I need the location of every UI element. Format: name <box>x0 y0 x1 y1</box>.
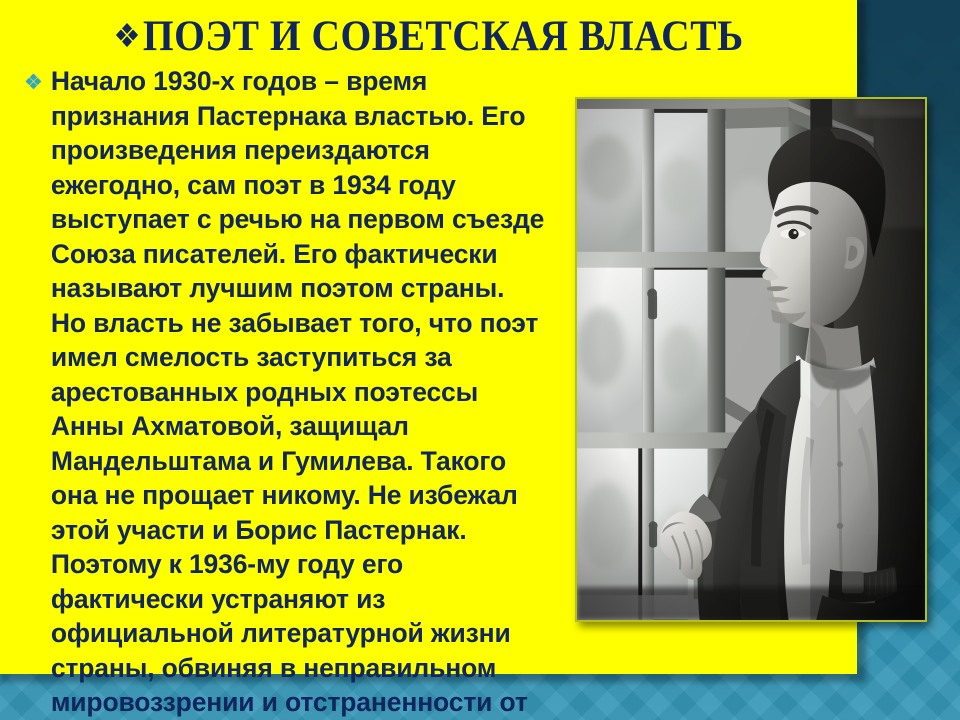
slide: ❖ПОЭТ И СОВЕТСКАЯ ВЛАСТЬ ❖ Начало 1930-х… <box>0 0 960 720</box>
diamond-bullet-icon: ❖ <box>113 16 141 55</box>
photo-frame <box>575 97 927 622</box>
pasternak-window-photo <box>577 99 925 620</box>
body-paragraph: Начало 1930-х годов – время признания Па… <box>51 64 589 720</box>
slide-title: ❖ПОЭТ И СОВЕТСКАЯ ВЛАСТЬ <box>0 8 857 64</box>
slide-title-label: ПОЭТ И СОВЕТСКАЯ ВЛАСТЬ <box>143 13 744 60</box>
slide-title-text: ❖ПОЭТ И СОВЕТСКАЯ ВЛАСТЬ <box>113 15 743 58</box>
photo-container <box>575 97 927 622</box>
body-bullet-item: ❖ Начало 1930-х годов – время признания … <box>24 64 589 720</box>
diamond-bullet-icon: ❖ <box>24 72 43 93</box>
